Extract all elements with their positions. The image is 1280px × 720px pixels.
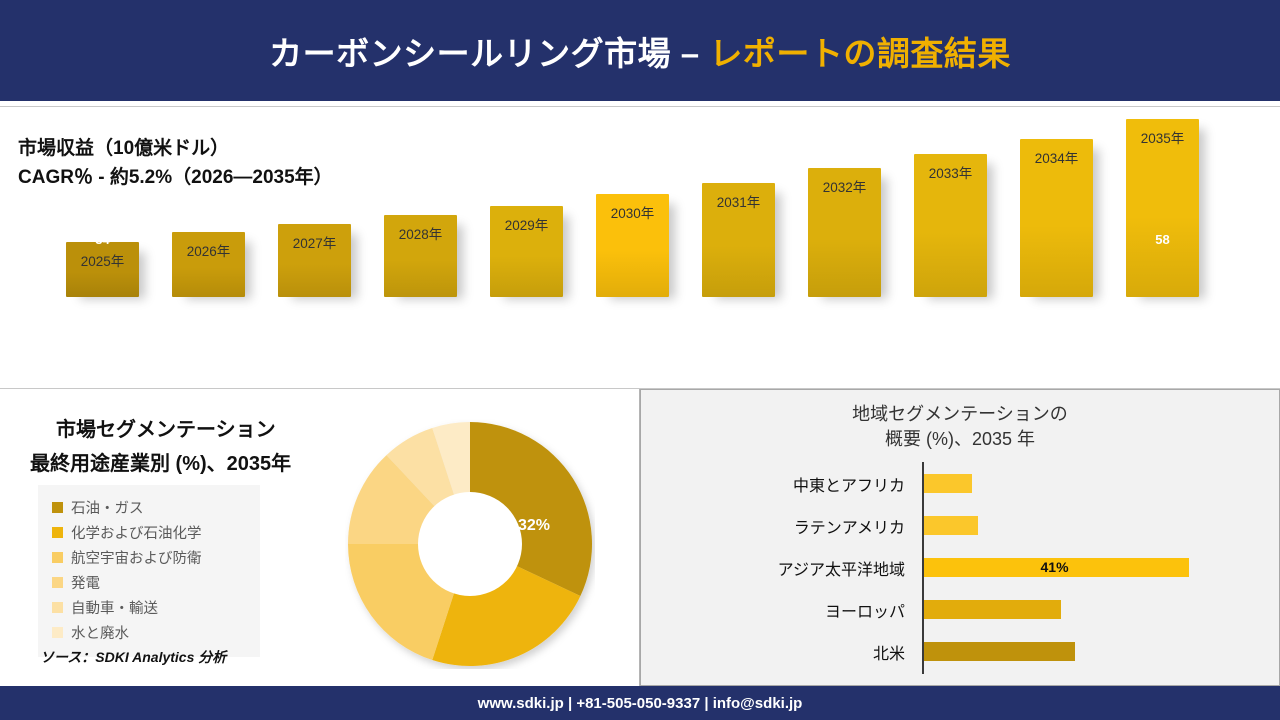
regional-segmentation-panel: 地域セグメンテーションの 概要 (%)、2035 年 中東とアフリカラテンアメリ… bbox=[640, 389, 1280, 686]
bar-category-label: 2028年 bbox=[376, 223, 465, 243]
legend-swatch-icon bbox=[52, 602, 63, 613]
legend-swatch-icon bbox=[52, 627, 63, 638]
legend-item-label: 航空宇宙および防衛 bbox=[71, 547, 202, 568]
donut-title-line2: 最終用途産業別 (%)、2035年 bbox=[30, 447, 291, 476]
legend-item[interactable]: 自動車・輸送 bbox=[52, 595, 254, 620]
page-title: カーボンシールリング市場 – レポートの調査結果 bbox=[269, 27, 1011, 75]
bar-value-label: 34 bbox=[66, 232, 139, 247]
bar-column: 2027年 bbox=[278, 224, 351, 297]
legend-swatch-icon bbox=[52, 527, 63, 538]
bar-category-label: 2026年 bbox=[164, 240, 253, 260]
legend-item-label: 化学および石油化学 bbox=[71, 522, 202, 543]
bar-column: 2030年 bbox=[596, 194, 669, 297]
regional-chart-title: 地域セグメンテーションの 概要 (%)、2035 年 bbox=[641, 402, 1279, 452]
bar-column: 2031年 bbox=[702, 183, 775, 297]
market-segmentation-panel: 市場セグメンテーション 最終用途産業別 (%)、2035年 石油・ガス化学および… bbox=[0, 389, 639, 686]
source-note: ソース：SDKI Analytics 分析 bbox=[40, 647, 226, 667]
bar-category-label: 2027年 bbox=[270, 232, 359, 252]
regional-bar-label: ヨーロッパ bbox=[825, 598, 905, 622]
donut-center-label: 32% bbox=[518, 517, 550, 535]
legend-item[interactable]: 航空宇宙および防衛 bbox=[52, 545, 254, 570]
legend-item[interactable]: 石油・ガス bbox=[52, 495, 254, 520]
bar-column: 2028年 bbox=[384, 215, 457, 297]
bar-category-label: 2033年 bbox=[906, 162, 995, 182]
bar-column: 2026年 bbox=[172, 232, 245, 297]
bar-category-label: 2035年 bbox=[1118, 127, 1207, 147]
title-main: カーボンシールリング市場 bbox=[269, 35, 671, 72]
bar-column: 2032年 bbox=[808, 168, 881, 297]
donut-legend: 石油・ガス化学および石油化学航空宇宙および防衛発電自動車・輸送水と廃水 bbox=[38, 485, 260, 657]
bar-category-label: 2030年 bbox=[588, 202, 677, 222]
legend-item-label: 水と廃水 bbox=[71, 622, 129, 643]
regional-bar-label: アジア太平洋地域 bbox=[778, 556, 905, 580]
regional-bar[interactable] bbox=[924, 516, 978, 535]
regional-bar-row: ラテンアメリカ bbox=[641, 504, 1279, 546]
regional-bar-label: ラテンアメリカ bbox=[794, 514, 905, 538]
title-accent: レポートの調査結果 bbox=[709, 35, 1011, 72]
bar-column: 582035年 bbox=[1126, 119, 1199, 297]
footer-contact: www.sdki.jp | +81-505-050-9337 | info@sd… bbox=[478, 695, 803, 712]
donut-title-line1: 市場セグメンテーション bbox=[56, 413, 276, 442]
legend-swatch-icon bbox=[52, 502, 63, 513]
regional-bar-row: 北米 bbox=[641, 630, 1279, 672]
regional-bar[interactable] bbox=[924, 600, 1061, 619]
legend-item-label: 石油・ガス bbox=[71, 497, 144, 518]
bar-category-label: 2025年 bbox=[58, 250, 147, 270]
bar-category-label: 2031年 bbox=[694, 191, 783, 211]
regional-bar[interactable] bbox=[924, 474, 972, 493]
regional-bar-row: アジア太平洋地域41% bbox=[641, 546, 1279, 588]
bar-category-label: 2032年 bbox=[800, 176, 889, 196]
donut-hole bbox=[418, 492, 522, 596]
legend-item-label: 自動車・輸送 bbox=[71, 597, 158, 618]
bar-column: 2034年 bbox=[1020, 139, 1093, 297]
legend-swatch-icon bbox=[52, 552, 63, 563]
page-footer: www.sdki.jp | +81-505-050-9337 | info@sd… bbox=[0, 686, 1280, 720]
legend-item[interactable]: 発電 bbox=[52, 570, 254, 595]
legend-swatch-icon bbox=[52, 577, 63, 588]
regional-bar-label: 北米 bbox=[873, 640, 905, 664]
donut-chart: 32% bbox=[345, 419, 595, 669]
regional-title-line1: 地域セグメンテーションの bbox=[852, 404, 1068, 424]
market-revenue-bars: 342025年2026年2027年2028年2029年2030年2031年203… bbox=[40, 117, 1250, 337]
bar-category-label: 2029年 bbox=[482, 214, 571, 234]
legend-item[interactable]: 化学および石油化学 bbox=[52, 520, 254, 545]
regional-bar-row: ヨーロッパ bbox=[641, 588, 1279, 630]
header-underline bbox=[0, 101, 1280, 105]
page-header: カーボンシールリング市場 – レポートの調査結果 bbox=[0, 0, 1280, 101]
bar-column: 342025年 bbox=[66, 242, 139, 297]
regional-bar-row: 中東とアフリカ bbox=[641, 462, 1279, 504]
regional-bar-value: 41% bbox=[1041, 558, 1069, 577]
regional-bar[interactable] bbox=[924, 642, 1075, 661]
legend-item[interactable]: 水と廃水 bbox=[52, 620, 254, 645]
bar-category-label: 2034年 bbox=[1012, 147, 1101, 167]
title-dash: – bbox=[671, 35, 709, 72]
bar-column: 2033年 bbox=[914, 154, 987, 297]
bar-column: 2029年 bbox=[490, 206, 563, 297]
donut-svg bbox=[345, 419, 595, 669]
regional-bar-label: 中東とアフリカ bbox=[793, 472, 905, 496]
market-revenue-chart-panel: 市場収益（10億米ドル） CAGR％ - 約5.2%（2026―2035年） 3… bbox=[0, 107, 1280, 388]
legend-item-label: 発電 bbox=[71, 572, 100, 593]
regional-title-line2: 概要 (%)、2035 年 bbox=[885, 429, 1035, 449]
regional-bars-plot: 中東とアフリカラテンアメリカアジア太平洋地域41%ヨーロッパ北米 bbox=[641, 462, 1279, 674]
bar-value-label: 58 bbox=[1126, 232, 1199, 247]
